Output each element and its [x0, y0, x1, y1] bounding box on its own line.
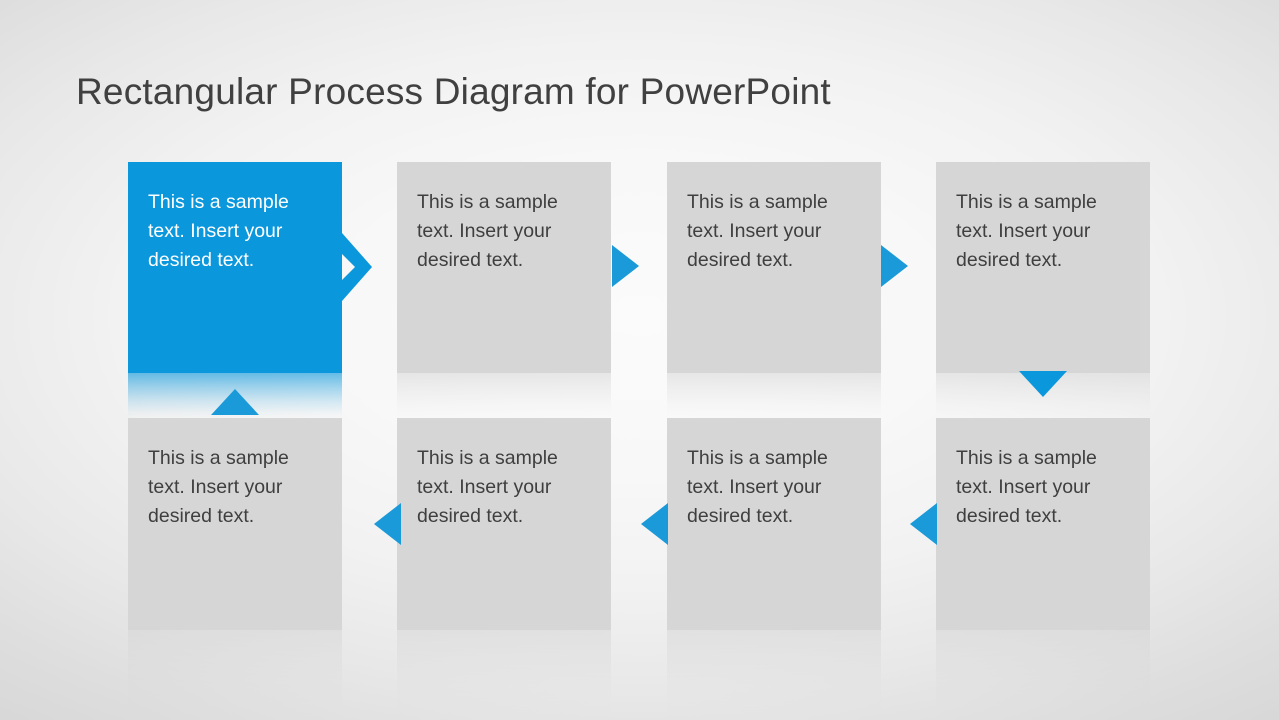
- arrow-right-icon-2: [612, 245, 639, 287]
- process-column-4: This is a sample text. Insert your desir…: [936, 0, 1150, 720]
- process-box-top-2-text: This is a sample text. Insert your desir…: [417, 188, 589, 275]
- process-column-3: This is a sample text. Insert your desir…: [667, 0, 881, 720]
- process-box-top-3-text: This is a sample text. Insert your desir…: [687, 188, 859, 275]
- process-box-bottom-3[interactable]: This is a sample text. Insert your desir…: [667, 418, 881, 630]
- reflection-top-1: [128, 373, 342, 418]
- process-box-bottom-1[interactable]: This is a sample text. Insert your desir…: [128, 418, 342, 630]
- process-box-top-2[interactable]: This is a sample text. Insert your desir…: [397, 162, 611, 373]
- process-box-bottom-2[interactable]: This is a sample text. Insert your desir…: [397, 418, 611, 630]
- reflection-bottom-1: [128, 630, 342, 720]
- arrow-left-icon-3: [910, 503, 937, 545]
- process-box-top-4[interactable]: This is a sample text. Insert your desir…: [936, 162, 1150, 373]
- process-box-bottom-2-text: This is a sample text. Insert your desir…: [417, 444, 589, 531]
- process-box-top-1-text: This is a sample text. Insert your desir…: [148, 188, 320, 275]
- reflection-bottom-4: [936, 630, 1150, 720]
- arrow-right-icon-1: [342, 233, 372, 301]
- process-box-top-1[interactable]: This is a sample text. Insert your desir…: [128, 162, 342, 373]
- arrow-right-icon-3: [881, 245, 908, 287]
- reflection-top-4: [936, 373, 1150, 418]
- process-box-bottom-4-text: This is a sample text. Insert your desir…: [956, 444, 1128, 531]
- process-box-bottom-4[interactable]: This is a sample text. Insert your desir…: [936, 418, 1150, 630]
- process-column-2: This is a sample text. Insert your desir…: [397, 0, 611, 720]
- process-column-1: This is a sample text. Insert your desir…: [128, 0, 342, 720]
- reflection-bottom-3: [667, 630, 881, 720]
- reflection-top-3: [667, 373, 881, 418]
- presentation-slide: Rectangular Process Diagram for PowerPoi…: [0, 0, 1279, 720]
- reflection-top-2: [397, 373, 611, 418]
- process-box-bottom-3-text: This is a sample text. Insert your desir…: [687, 444, 859, 531]
- reflection-bottom-2: [397, 630, 611, 720]
- process-box-bottom-1-text: This is a sample text. Insert your desir…: [148, 444, 320, 531]
- process-box-top-4-text: This is a sample text. Insert your desir…: [956, 188, 1128, 275]
- arrow-left-icon-2: [641, 503, 668, 545]
- process-box-top-3[interactable]: This is a sample text. Insert your desir…: [667, 162, 881, 373]
